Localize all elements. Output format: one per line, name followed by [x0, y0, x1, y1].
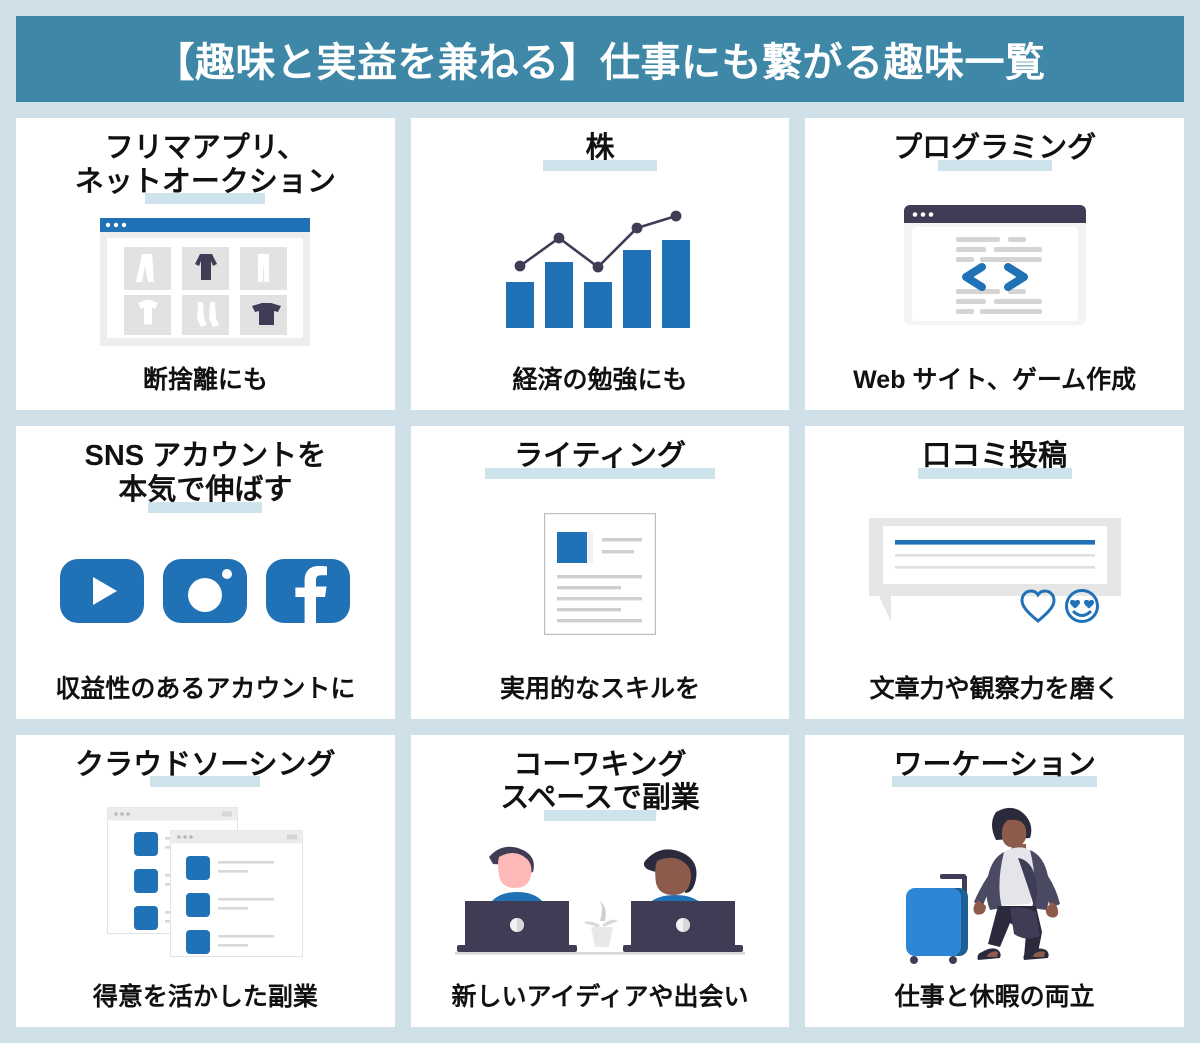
card-writing[interactable]: ライティング 実用的なスキルを	[411, 426, 790, 718]
bar-line-chart-illustration	[421, 171, 780, 361]
card-title-line-1: ワーケーション	[893, 749, 1095, 783]
youtube-icon	[60, 559, 144, 623]
card-caption: 文章力や観察力を磨く	[870, 669, 1120, 709]
card-review-posting[interactable]: 口コミ投稿	[805, 426, 1184, 718]
card-title: 株	[585, 132, 614, 166]
card-programming[interactable]: プログラミング	[805, 118, 1184, 410]
card-title: プログラミング	[893, 132, 1096, 166]
card-title: 口コミ投稿	[922, 440, 1067, 474]
card-title-line-1: SNS アカウントを	[84, 440, 326, 474]
card-title: コーワキング スペースで副業	[500, 749, 700, 816]
card-title: クラウドソーシング	[75, 749, 335, 783]
card-title-line-1: プログラミング	[893, 132, 1096, 166]
instagram-icon	[163, 559, 247, 623]
plant	[584, 901, 618, 947]
card-title-line-1: クラウドソーシング	[75, 749, 335, 783]
traveler-suitcase-illustration	[815, 787, 1174, 977]
facebook-icon	[266, 559, 350, 623]
card-sns-accounts[interactable]: SNS アカウントを 本気で伸ばす	[16, 426, 395, 718]
article-document-illustration	[421, 479, 780, 669]
stock-chart	[500, 200, 700, 330]
card-title: フリマアプリ、 ネットオークション	[75, 132, 336, 199]
page-title: 【趣味と実益を兼ねる】仕事にも繋がる趣味一覧	[155, 30, 1046, 88]
card-caption: 得意を活かした副業	[93, 977, 318, 1017]
card-title-line-1: フリマアプリ、	[75, 132, 336, 166]
traveler-figure	[973, 808, 1060, 960]
card-workation[interactable]: ワーケーション	[805, 735, 1184, 1027]
card-caption: 収益性のあるアカウントに	[55, 669, 355, 709]
front-window	[171, 831, 303, 957]
page-header: 【趣味と実益を兼ねる】仕事にも繋がる趣味一覧	[16, 16, 1184, 102]
card-title: ワーケーション	[893, 749, 1095, 783]
card-title-line-2: 本気で伸ばす	[84, 474, 326, 508]
card-title-line-2: ネットオークション	[75, 166, 336, 200]
card-caption: 仕事と休暇の両立	[895, 977, 1095, 1017]
card-caption: 実用的なスキルを	[500, 669, 700, 709]
hobby-card-grid: フリマアプリ、 ネットオークション	[16, 118, 1184, 1027]
two-people-laptops-illustration	[421, 821, 780, 977]
marketplace-window-illustration	[26, 204, 385, 360]
card-title-line-1: ライティング	[514, 440, 686, 474]
card-title: SNS アカウントを 本気で伸ばす	[84, 440, 326, 507]
social-icons-row	[26, 513, 385, 669]
card-coworking-space[interactable]: コーワキング スペースで副業	[411, 735, 790, 1027]
stacked-browser-windows-illustration	[26, 787, 385, 977]
infographic-page: 【趣味と実益を兼ねる】仕事にも繋がる趣味一覧 フリマアプリ、 ネットオークション	[0, 0, 1200, 1043]
laptop-left	[457, 901, 577, 952]
card-title-line-1: 口コミ投稿	[922, 440, 1067, 474]
card-caption: 新しいアイディアや出会い	[451, 977, 748, 1017]
card-caption: 経済の勉強にも	[512, 360, 687, 400]
card-title: ライティング	[514, 440, 686, 474]
card-caption: Web サイト、ゲーム作成	[853, 360, 1136, 400]
card-flea-market-app[interactable]: フリマアプリ、 ネットオークション	[16, 118, 395, 410]
card-title-line-1: コーワキング	[500, 749, 700, 783]
card-crowdsourcing[interactable]: クラウドソーシング	[16, 735, 395, 1027]
laptop-right	[623, 901, 743, 952]
code-editor-window-illustration	[815, 171, 1174, 361]
card-title-line-2: スペースで副業	[500, 782, 700, 816]
speech-bubble-illustration	[815, 479, 1174, 669]
card-caption: 断捨離にも	[143, 360, 268, 400]
card-title-line-1: 株	[585, 132, 614, 166]
card-stocks[interactable]: 株 経済の勉強にも	[411, 118, 790, 410]
